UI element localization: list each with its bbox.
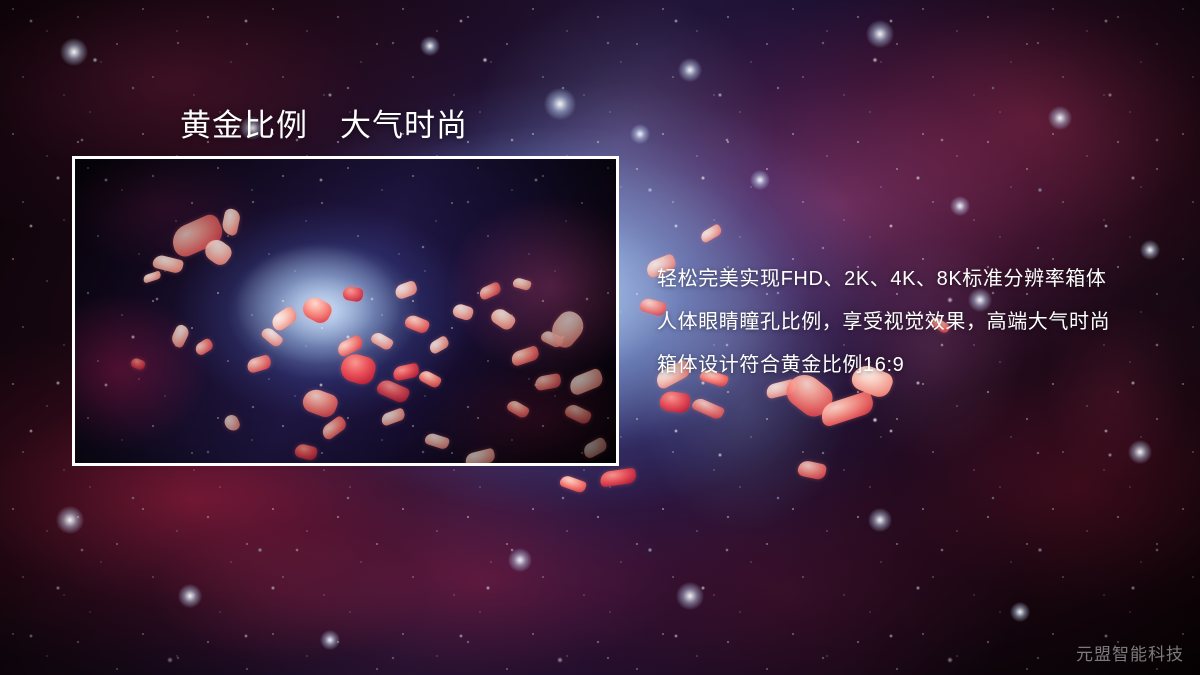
bright-star	[60, 38, 88, 66]
body-line-2: 人体眼睛瞳孔比例，享受视觉效果，高端大气时尚	[657, 301, 1177, 344]
bright-star	[950, 196, 970, 216]
petal	[659, 390, 691, 414]
bright-star	[420, 36, 440, 56]
bright-star	[178, 584, 202, 608]
bright-star	[868, 508, 892, 532]
bright-star	[630, 124, 650, 144]
bright-star	[544, 88, 576, 120]
slide-title: 黄金比例 大气时尚	[180, 100, 468, 145]
petal	[797, 459, 828, 480]
petal	[691, 396, 726, 421]
bright-star	[320, 630, 340, 650]
presentation-slide: 黄金比例 大气时尚 轻松完美实现FHD、2K、4K、8K标准分辨率箱体 人体眼睛…	[0, 0, 1200, 675]
bright-star	[1010, 602, 1030, 622]
bright-star	[1128, 440, 1152, 464]
bright-star	[1140, 240, 1160, 260]
company-watermark: 元盟智能科技	[1076, 640, 1184, 665]
body-line-3: 箱体设计符合黄金比例16:9	[657, 344, 1177, 387]
bright-star	[866, 20, 894, 48]
framed-image-panel	[72, 156, 619, 466]
petal	[599, 468, 637, 488]
bright-star	[750, 170, 770, 190]
bright-star	[678, 58, 702, 82]
bright-star	[508, 548, 532, 572]
panel-vignette	[75, 159, 616, 463]
bright-star	[1048, 106, 1072, 130]
bright-star	[56, 506, 84, 534]
framed-image-content	[75, 159, 616, 463]
petal	[699, 223, 724, 244]
body-line-1: 轻松完美实现FHD、2K、4K、8K标准分辨率箱体	[657, 258, 1177, 301]
petal	[559, 474, 588, 494]
bright-star	[676, 582, 704, 610]
body-text-block: 轻松完美实现FHD、2K、4K、8K标准分辨率箱体 人体眼睛瞳孔比例，享受视觉效…	[657, 258, 1177, 387]
petal	[818, 390, 876, 428]
